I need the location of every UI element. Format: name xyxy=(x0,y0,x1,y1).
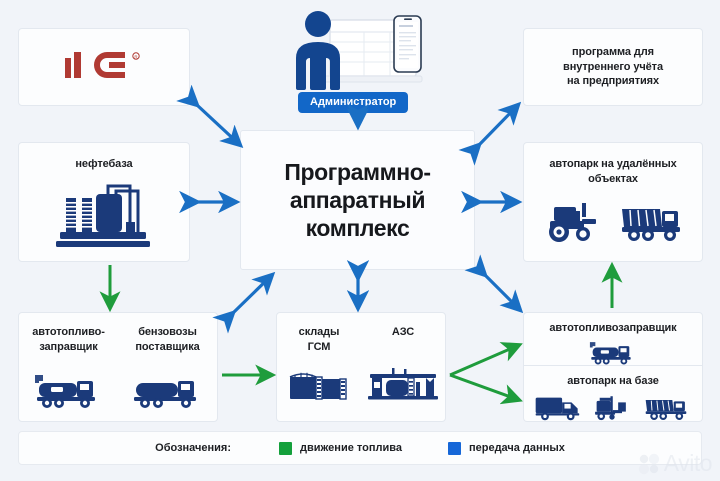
svg-text:R: R xyxy=(134,54,137,59)
fuel-storage-tanks-icon xyxy=(286,367,352,403)
gasoline-tanker-truck-icon xyxy=(132,369,204,409)
forklift-icon xyxy=(592,393,632,421)
legend-swatch-data xyxy=(448,442,461,455)
box-remote-fleet[interactable]: автопарк на удалённых объектах xyxy=(523,142,703,262)
legend-swatch-fuel xyxy=(279,442,292,455)
label-line-1: склады xyxy=(299,326,340,338)
arrow-1c-to-center xyxy=(197,105,240,145)
gas-station-icon xyxy=(368,366,438,402)
supplier-column: бензовозы поставщика xyxy=(118,325,217,421)
box-remote-fleet-label: автопарк на удалённых объектах xyxy=(549,157,676,187)
box-oil-depot[interactable]: нефтебаза xyxy=(18,142,190,262)
avito-logo-icon xyxy=(638,453,660,475)
box-base-fleet-label: автопарк на базе xyxy=(567,374,658,389)
label-line-1: автопарк на удалённых xyxy=(549,158,676,170)
legend-item-data: передача данных xyxy=(448,442,565,455)
arrow-station-to-base-tanker xyxy=(450,345,519,375)
box-internal-accounting[interactable]: программа для внутреннего учёта на предп… xyxy=(523,28,703,106)
central-system-title: Программно- аппаратный комплекс xyxy=(284,158,430,242)
avito-watermark: Avito xyxy=(638,450,712,477)
arrow-station-to-base-fleet xyxy=(450,375,519,400)
box-internal-accounting-label: программа для внутреннего учёта на предп… xyxy=(563,45,663,90)
box-base-tanker[interactable]: автотопливозаправщик xyxy=(523,312,703,366)
tanker-column: автотопливо- заправщик xyxy=(19,325,118,421)
legend: Обозначения: движение топлива передача д… xyxy=(18,431,702,465)
1c-logo-icon: R xyxy=(63,50,145,84)
box-central-system[interactable]: Программно- аппаратный комплекс xyxy=(240,130,475,270)
title-line-1: Программно- xyxy=(284,159,430,185)
van-icon xyxy=(534,393,584,421)
fuel-tanker-truck-icon xyxy=(581,338,645,365)
administrator-badge[interactable]: Администратор xyxy=(298,92,408,113)
arrow-center-to-program xyxy=(479,105,518,145)
supplier-label: бензовозы поставщика xyxy=(135,325,199,355)
label-line-2: поставщика xyxy=(135,341,199,353)
tanker-label: автотопливо- заправщик xyxy=(32,325,105,355)
legend-label-data: передача данных xyxy=(469,442,565,454)
fuel-tanker-truck-icon xyxy=(33,369,105,409)
avito-watermark-text: Avito xyxy=(664,450,712,477)
box-oil-depot-label: нефтебаза xyxy=(75,157,132,172)
label-line-3: на предприятиях xyxy=(567,75,659,87)
label-line-2: внутреннего учёта xyxy=(563,61,663,73)
dump-truck-icon xyxy=(618,199,684,243)
arrow-center-to-base xyxy=(485,275,520,310)
administrator-group: Администратор xyxy=(268,6,448,110)
label-line-1: бензовозы xyxy=(138,326,197,338)
station-label: АЗС xyxy=(392,325,414,340)
diagram-canvas: R xyxy=(0,0,720,481)
label-line-1: автотопливо- xyxy=(32,326,105,338)
box-1c[interactable]: R xyxy=(18,28,190,106)
arrow-tanker-to-center xyxy=(233,275,272,313)
tractor-icon xyxy=(542,199,604,243)
title-line-3: комплекс xyxy=(306,215,410,241)
oil-depot-icon xyxy=(56,178,152,250)
box-tanker-supplier[interactable]: автотопливо- заправщик xyxy=(18,312,218,422)
station-column: АЗС xyxy=(361,325,445,421)
box-storage-station[interactable]: склады ГСМ xyxy=(276,312,446,422)
label-line-2: заправщик xyxy=(39,341,97,353)
legend-title: Обозначения: xyxy=(155,442,231,454)
label-line-1: программа для xyxy=(572,46,654,58)
title-line-2: аппаратный xyxy=(290,187,425,213)
label-line-2: ГСМ xyxy=(308,341,331,353)
box-base-tanker-label: автотопливозаправщик xyxy=(549,321,676,336)
storage-column: склады ГСМ xyxy=(277,325,361,421)
legend-label-fuel: движение топлива xyxy=(300,442,402,454)
storage-label: склады ГСМ xyxy=(299,325,340,355)
box-base-fleet[interactable]: автопарк на базе xyxy=(523,366,703,422)
legend-item-fuel: движение топлива xyxy=(279,442,402,455)
label-line-2: объектах xyxy=(588,173,638,185)
dump-truck-icon xyxy=(640,393,692,421)
